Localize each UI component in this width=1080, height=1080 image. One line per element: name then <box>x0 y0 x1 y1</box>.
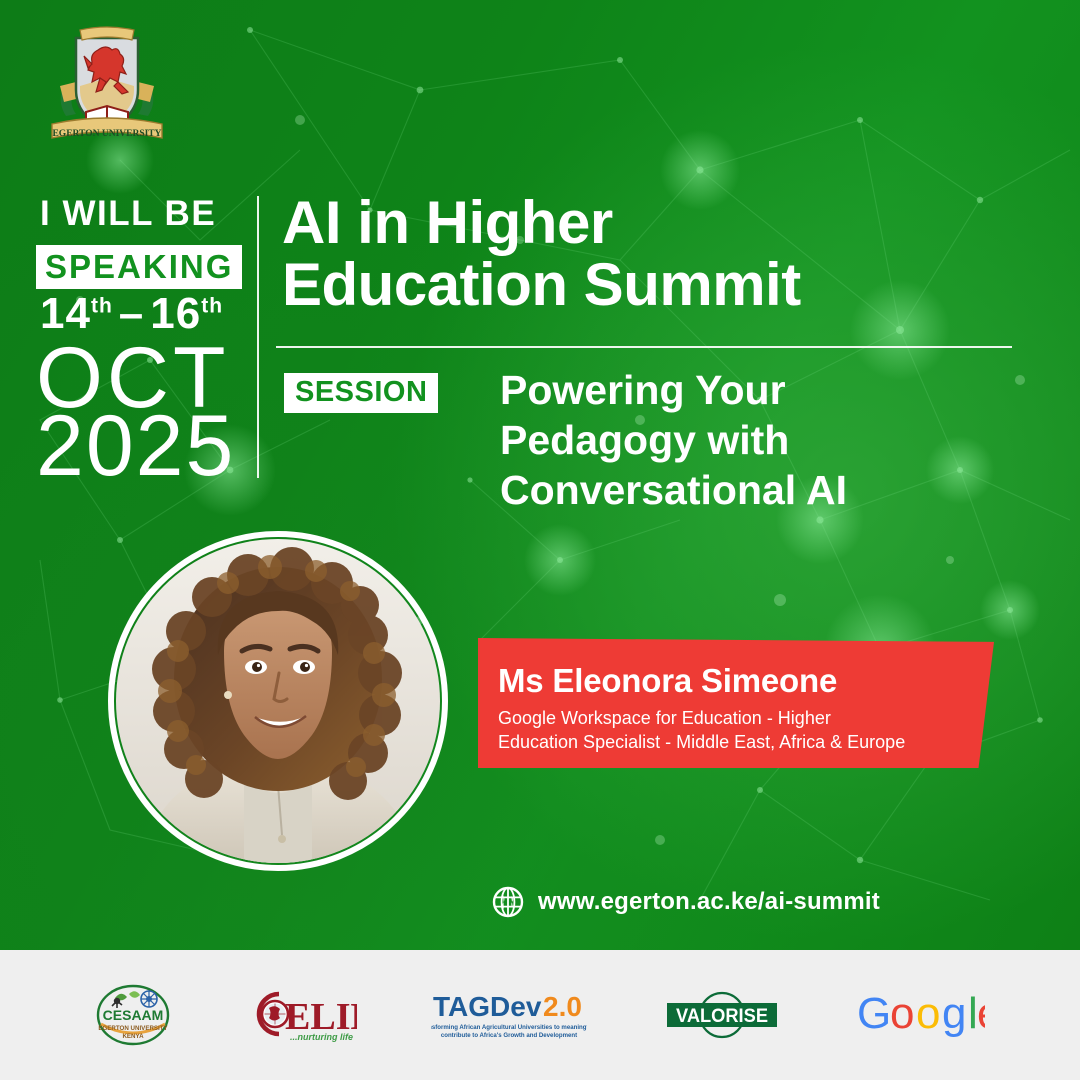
horizontal-divider <box>276 346 1012 348</box>
logo-valorise: VALORISE <box>661 988 783 1042</box>
event-title-line-2: Education Summit <box>282 254 982 316</box>
logo-elib: ELIB ...nurturing life <box>245 986 357 1044</box>
announcement-line-1: I WILL BE <box>40 196 216 231</box>
session-badge: SESSION <box>284 373 438 413</box>
event-year: 2025 <box>36 404 235 488</box>
logo-tagdev: TAGDev 2.0 Transforming African Agricult… <box>431 986 587 1044</box>
speaker-role-line-2: Education Specialist - Middle East, Afri… <box>498 730 968 754</box>
logo-valorise-name: VALORISE <box>676 1006 768 1027</box>
logo-cesaam: CESAAM EGERTON UNIVERSITY KENYA <box>95 984 171 1046</box>
session-title-line-1: Powering Your <box>500 365 970 415</box>
crest-institution-text: EGERTON UNIVERSITY <box>52 129 161 139</box>
sponsor-logo-bar: CESAAM EGERTON UNIVERSITY KENYA ELIB ...… <box>0 950 1080 1080</box>
event-title: AI in Higher Education Summit <box>282 192 982 317</box>
logo-tagdev-name: TAGDev <box>433 991 542 1022</box>
speaker-name: Ms Eleonora Simeone <box>498 662 837 700</box>
date-day-end-suffix: th <box>201 294 223 317</box>
session-title-line-2: Pedagogy with <box>500 415 970 465</box>
event-title-line-1: AI in Higher <box>282 192 982 254</box>
logo-google-letter-o2: o <box>916 991 940 1038</box>
logo-cesaam-sub-2: KENYA <box>122 1033 144 1040</box>
logo-cesaam-sub-1: EGERTON UNIVERSITY <box>98 1025 168 1032</box>
speaker-role: Google Workspace for Education - Higher … <box>498 706 968 755</box>
website-url[interactable]: www.egerton.ac.ke/ai-summit <box>538 888 880 916</box>
egerton-university-crest: EGERTON UNIVERSITY <box>46 20 168 144</box>
logo-elib-tagline: ...nurturing life <box>290 1032 353 1042</box>
globe-icon <box>492 886 524 918</box>
speaker-portrait <box>108 503 448 871</box>
announcement-line-2-badge: SPEAKING <box>36 245 242 289</box>
vertical-divider <box>257 196 259 478</box>
logo-google: G o o g l e <box>857 991 985 1039</box>
speaker-role-line-1: Google Workspace for Education - Higher <box>498 706 968 730</box>
speaker-announcement-poster: EGERTON UNIVERSITY I WILL BE SPEAKING 14… <box>0 0 1080 1080</box>
logo-tagdev-version: 2.0 <box>543 991 582 1022</box>
logo-tagdev-tagline-1: Transforming African Agricultural Univer… <box>431 1024 587 1031</box>
speaker-info-banner: Ms Eleonora Simeone Google Workspace for… <box>478 638 994 768</box>
logo-google-letter-o1: o <box>890 991 914 1038</box>
logo-tagdev-tagline-2: contribute to Africa's Growth and Develo… <box>441 1032 577 1039</box>
portrait-ring <box>108 531 448 871</box>
logo-cesaam-name: CESAAM <box>103 1007 164 1023</box>
logo-google-letter-e: e <box>977 991 985 1038</box>
session-title: Powering Your Pedagogy with Conversation… <box>500 365 970 515</box>
poster-background: EGERTON UNIVERSITY I WILL BE SPEAKING 14… <box>0 0 1080 950</box>
session-title-line-3: Conversational AI <box>500 465 970 515</box>
date-day-start-suffix: th <box>91 294 113 317</box>
website-row[interactable]: www.egerton.ac.ke/ai-summit <box>492 886 880 918</box>
logo-google-letter-g2: g <box>942 991 966 1038</box>
logo-google-letter-g1: G <box>857 991 891 1038</box>
